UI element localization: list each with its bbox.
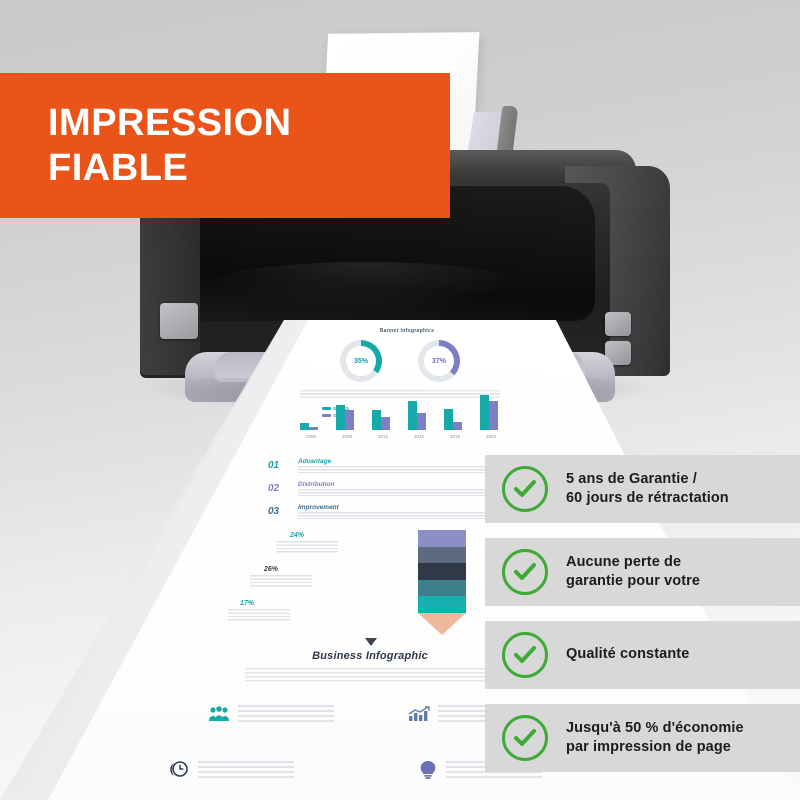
funnel-text-3 [228, 609, 290, 621]
poster-canvas: Banner Infographics 35% 37% Step 01 Step… [0, 0, 800, 800]
printer-body-left [140, 210, 200, 375]
feature-text: Jusqu'à 50 % d'économie par impression d… [566, 719, 744, 757]
clock-icon [168, 760, 190, 780]
bar-step-01 [408, 401, 417, 430]
list-body-lines [298, 489, 498, 496]
bar-step-02 [381, 417, 390, 431]
feature-line-2: 60 jours de rétractation [566, 489, 729, 508]
feature-box-perte-garantie[interactable]: Aucune perte de garantie pour votre [485, 538, 800, 606]
bar-axis-label: 2009 [332, 434, 362, 439]
pencil-funnel-chart: 24% 26% 17% [228, 530, 488, 635]
funnel-label-1: 24% [290, 532, 304, 539]
feature-icon-text [238, 705, 334, 723]
pencil-graphic [418, 530, 466, 635]
pencil-slice-1 [418, 530, 466, 547]
feature-icon-text [198, 761, 294, 779]
feature-box-qualite[interactable]: Qualité constante [485, 621, 800, 689]
bar-step-01 [444, 409, 453, 430]
bar-step-01 [480, 395, 489, 430]
pencil-slice-4 [418, 580, 466, 596]
funnel-label-2: 26% [264, 566, 278, 573]
feature-box-garantie[interactable]: 5 ans de Garantie / 60 jours de rétracta… [485, 455, 800, 523]
bar-axis-label: 2006 [296, 434, 326, 439]
numbered-list-item: 01 Advantage [268, 458, 498, 473]
list-number: 03 [268, 506, 279, 517]
list-title: Advantage [298, 458, 498, 465]
feature-box-economie[interactable]: Jusqu'à 50 % d'économie par impression d… [485, 704, 800, 772]
pencil-slice-5 [418, 596, 466, 613]
bar-axis-label: 2012 [368, 434, 398, 439]
pencil-slice-2 [418, 547, 466, 563]
bar-step-01 [300, 423, 309, 430]
infographic-title: Banner Infographics [352, 328, 462, 334]
feature-line-1: Qualité constante [566, 645, 689, 664]
funnel-label-3: 17% [240, 600, 254, 607]
printer-power-button[interactable] [160, 303, 198, 339]
list-title: Distribution [298, 481, 498, 488]
bar-step-01 [336, 405, 345, 430]
check-circle-icon [502, 466, 548, 512]
feature-line-1: 5 ans de Garantie / [566, 470, 729, 489]
bar-step-01 [372, 410, 381, 430]
bar-axis-label: 2015 [404, 434, 434, 439]
feature-line-1: Jusqu'à 50 % d'économie [566, 719, 744, 738]
feature-icon-row-clock [168, 760, 294, 780]
headline-banner: IMPRESSION FIABLE [0, 73, 450, 218]
check-circle-icon [502, 549, 548, 595]
bar-axis-label: 2018 [440, 434, 470, 439]
donut-chart-1: 35% [340, 340, 382, 382]
list-number: 01 [268, 460, 279, 471]
headline-line-1: IMPRESSION [48, 101, 450, 146]
numbered-list: 01 Advantage 02 Distribution 03 Improvem… [268, 458, 498, 527]
lightbulb-icon [418, 760, 438, 780]
printer-gloss-highlight [200, 262, 530, 314]
people-group-icon [208, 706, 230, 722]
bar-step-02 [309, 427, 318, 430]
check-circle-icon [502, 632, 548, 678]
bar-step-02 [417, 413, 426, 430]
list-number: 02 [268, 483, 279, 494]
bar-step-02 [489, 401, 498, 430]
bar-chart-growth-icon [408, 706, 430, 722]
list-body-lines [298, 466, 498, 473]
list-title: Improvement [298, 504, 498, 511]
check-circle-icon [502, 715, 548, 761]
feature-text: Aucune perte de garantie pour votre [566, 553, 700, 591]
funnel-text-1 [276, 541, 338, 553]
headline-line-2: FIABLE [48, 146, 450, 191]
bar-step-02 [345, 410, 354, 430]
section-title: Business Infographic [250, 650, 490, 662]
printer-side-button-1[interactable] [605, 312, 631, 336]
bar-step-02 [453, 422, 462, 430]
donut-chart-2-label: 37% [432, 358, 446, 365]
feature-line-2: par impression de page [566, 738, 744, 757]
bar-axis-label: 2023 [476, 434, 506, 439]
numbered-list-item: 02 Distribution [268, 481, 498, 496]
numbered-list-item: 03 Improvement [268, 504, 498, 519]
pencil-slice-3 [418, 563, 466, 580]
section-arrow-icon [365, 638, 377, 646]
funnel-text-2 [250, 575, 312, 587]
list-body-lines [298, 512, 498, 519]
feature-line-2: garantie pour votre [566, 572, 700, 591]
donut-chart-2: 37% [418, 340, 460, 382]
feature-text: 5 ans de Garantie / 60 jours de rétracta… [566, 470, 729, 508]
pencil-tip [418, 613, 466, 635]
donut-chart-1-label: 35% [354, 358, 368, 365]
bar-chart: 200620092012201520182023 [296, 390, 512, 440]
feature-icon-row-people [208, 705, 334, 723]
section-body-lines [245, 668, 495, 684]
feature-text: Qualité constante [566, 645, 689, 664]
feature-line-1: Aucune perte de [566, 553, 700, 572]
